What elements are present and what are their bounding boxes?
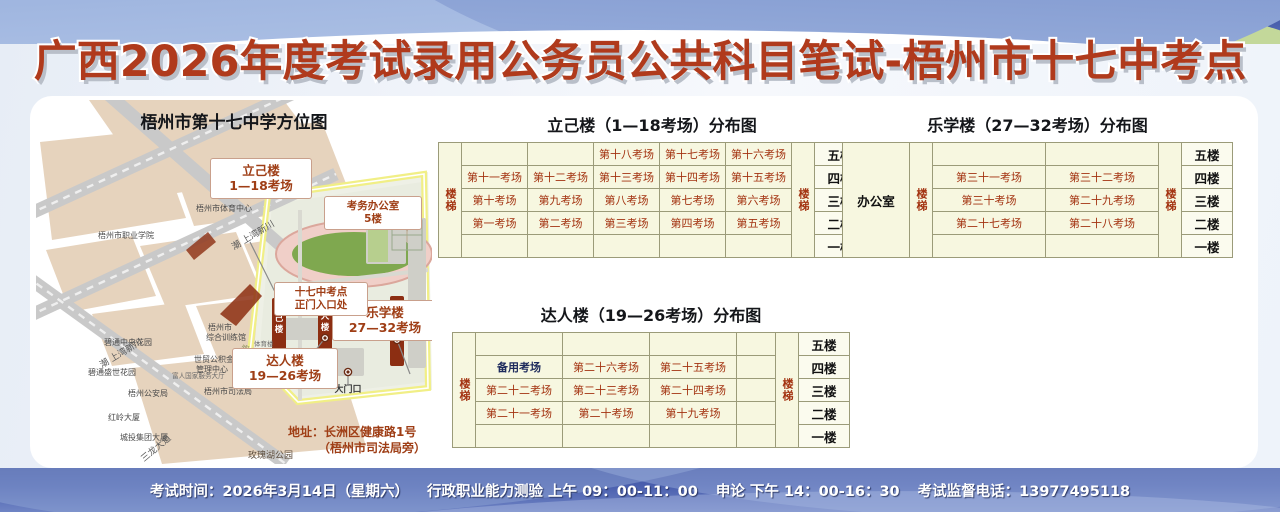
poster-root: 广西2026年度考试录用公务员公共科目笔试-梧州市十七中考点 梧州市第十七中学方… (0, 0, 1280, 512)
stair-right: 楼梯 (792, 143, 815, 258)
floor-label: 四楼 (799, 356, 850, 379)
cell (528, 235, 594, 258)
table-row: 办公室 楼梯 楼梯 五楼 (843, 143, 1233, 166)
map-title: 梧州市第十七中学方位图 (36, 108, 432, 133)
cell (737, 333, 776, 356)
place-label-1: 梧州市体育中心 (196, 203, 252, 213)
block-lexue: 乐学楼（27—32考场）分布图 办公室 楼梯 楼梯 五楼 第三十一考场 第三十二… (842, 112, 1233, 258)
floor-label: 二楼 (799, 402, 850, 425)
place-label-2: 梧州市 (208, 322, 232, 332)
map-address-line1: 地址：长洲区健康路1号 (288, 424, 426, 440)
cell (476, 425, 563, 448)
callout-daren-line2: 19—26考场 (239, 368, 331, 383)
cell: 第三十二考场 (1046, 166, 1159, 189)
callout-office-line1: 考务办公室 (330, 200, 416, 213)
block-daren-title: 达人楼（19—26考场）分布图 (452, 302, 850, 326)
cell (650, 425, 737, 448)
stair-left: 楼梯 (439, 143, 462, 258)
floor-label: 五楼 (1182, 143, 1233, 166)
cell (563, 333, 650, 356)
office-cell: 办公室 (843, 143, 910, 258)
floor-label: 三楼 (799, 379, 850, 402)
svg-text:楼: 楼 (275, 324, 284, 335)
place-label-hall: 富人国家服务大厅 (172, 371, 225, 380)
cell: 第二十考场 (563, 402, 650, 425)
cell (528, 143, 594, 166)
cell: 第二十二考场 (476, 379, 563, 402)
stair-right: 楼梯 (1159, 143, 1182, 258)
table-row: 楼梯 楼梯 五楼 (453, 333, 850, 356)
cell: 第二十七考场 (933, 212, 1046, 235)
callout-office: 考务办公室 5楼 (324, 196, 422, 230)
footer-text-row: 考试时间：2026年3月14日（星期六） 行政职业能力测验 上午 09：00-1… (0, 468, 1280, 512)
map-graphic: 立 己 楼 达 人 楼 乐 学 楼 崇德楼 大门口 梧州市职业学院 梧州市体育中… (36, 100, 432, 464)
cell: 第八考场 (594, 189, 660, 212)
footer-subject-1: 行政职业能力测验 上午 09：00-11：00 (427, 480, 698, 501)
callout-daren: 达人楼 19—26考场 (232, 348, 338, 389)
cell: 第十四考场 (660, 166, 726, 189)
cell: 第九考场 (528, 189, 594, 212)
cell: 第十六考场 (726, 143, 792, 166)
cell: 第二十六考场 (563, 356, 650, 379)
cell: 第二考场 (528, 212, 594, 235)
stair-right: 楼梯 (776, 333, 799, 448)
callout-liji-line1: 立己楼 (217, 163, 305, 178)
cell: 第三十考场 (933, 189, 1046, 212)
table-row: 楼梯 第十八考场 第十七考场 第十六考场 楼梯 五楼 (439, 143, 866, 166)
banner-title-wrapper: 广西2026年度考试录用公务员公共科目笔试-梧州市十七中考点 (0, 33, 1280, 95)
cell (594, 235, 660, 258)
callout-gate-line2: 正门入口处 (280, 299, 362, 312)
cell: 第六考场 (726, 189, 792, 212)
campus-location-map: 梧州市第十七中学方位图 (36, 100, 432, 464)
block-daren-table: 楼梯 楼梯 五楼 备用考场 第二十六考场 第二十五考场 四楼 第二十二考场 第二… (452, 332, 850, 448)
cell (660, 235, 726, 258)
cell: 第十二考场 (528, 166, 594, 189)
svg-text:综合训练馆: 综合训练馆 (206, 332, 246, 342)
place-label-0: 梧州市职业学院 (98, 230, 154, 240)
cell (737, 356, 776, 379)
place-label-5: 世贸公积金 (194, 354, 234, 364)
floor-label: 四楼 (1182, 166, 1233, 189)
callout-office-line2: 5楼 (330, 213, 416, 226)
cell: 第四考场 (660, 212, 726, 235)
block-lexue-table: 办公室 楼梯 楼梯 五楼 第三十一考场 第三十二考场 四楼 第三十考场 第二十九… (842, 142, 1233, 258)
cell: 第十八考场 (594, 143, 660, 166)
cell: 第十九考场 (650, 402, 737, 425)
place-label-park: 玫瑰湖公园 (248, 449, 293, 461)
map-address-line2: （梧州市司法局旁） (288, 440, 426, 456)
callout-liji-line2: 1—18考场 (217, 178, 305, 193)
callout-lexue-line2: 27—32考场 (339, 320, 431, 335)
cell: 第十五考场 (726, 166, 792, 189)
cell (462, 235, 528, 258)
cell (1046, 235, 1159, 258)
cell: 第三十一考场 (933, 166, 1046, 189)
cell: 第二十五考场 (650, 356, 737, 379)
cell: 第二十三考场 (563, 379, 650, 402)
floor-label: 一楼 (1182, 235, 1233, 258)
svg-text:楼: 楼 (321, 322, 330, 333)
cell: 第五考场 (726, 212, 792, 235)
callout-daren-line1: 达人楼 (239, 353, 331, 368)
cell: 第一考场 (462, 212, 528, 235)
block-liji: 立己楼（1—18考场）分布图 楼梯 第十八考场 第十七考场 第十六考场 楼梯 五… (438, 112, 866, 258)
cell (462, 143, 528, 166)
block-liji-title: 立己楼（1—18考场）分布图 (438, 112, 866, 136)
floor-label: 五楼 (799, 333, 850, 356)
block-lexue-title: 乐学楼（27—32考场）分布图 (842, 112, 1233, 136)
cell (726, 235, 792, 258)
cell: 第十七考场 (660, 143, 726, 166)
cell: 第七考场 (660, 189, 726, 212)
cell (737, 425, 776, 448)
block-daren: 达人楼（19—26考场）分布图 楼梯 楼梯 五楼 备用考场 第二十六考场 第二十… (452, 302, 850, 448)
cell (563, 425, 650, 448)
cell (933, 235, 1046, 258)
cell (737, 379, 776, 402)
cell (1046, 143, 1159, 166)
place-label-8: 红岭大厦 (108, 412, 140, 422)
page-title: 广西2026年度考试录用公务员公共科目笔试-梧州市十七中考点 (34, 33, 1247, 91)
callout-gate-line1: 十七中考点 (280, 286, 362, 299)
cell-spare: 备用考场 (476, 356, 563, 379)
footer-bar: 考试时间：2026年3月14日（星期六） 行政职业能力测验 上午 09：00-1… (0, 468, 1280, 512)
footer-hotline: 考试监督电话：13977495118 (918, 480, 1130, 501)
place-label-6: 梧州公安局 (128, 388, 168, 398)
block-liji-table: 楼梯 第十八考场 第十七考场 第十六考场 楼梯 五楼 第十一考场 第十二考场 第… (438, 142, 866, 258)
cell (476, 333, 563, 356)
footer-exam-time: 考试时间：2026年3月14日（星期六） (150, 480, 409, 501)
callout-liji: 立己楼 1—18考场 (210, 158, 312, 199)
stair-left: 楼梯 (910, 143, 933, 258)
map-address: 地址：长洲区健康路1号 （梧州市司法局旁） (288, 424, 426, 456)
cell (933, 143, 1046, 166)
cell: 第三考场 (594, 212, 660, 235)
floor-label: 一楼 (799, 425, 850, 448)
cell: 第十一考场 (462, 166, 528, 189)
cell: 第二十四考场 (650, 379, 737, 402)
cell: 第二十九考场 (1046, 189, 1159, 212)
floor-label: 二楼 (1182, 212, 1233, 235)
callout-gate: 十七中考点 正门入口处 (274, 282, 368, 316)
cell: 第十三考场 (594, 166, 660, 189)
place-label-4: 碧通盛世花园 (88, 367, 136, 377)
floor-label: 三楼 (1182, 189, 1233, 212)
cell (737, 402, 776, 425)
svg-text:体育楼: 体育楼 (254, 339, 274, 348)
cell: 第十考场 (462, 189, 528, 212)
footer-subject-2: 申论 下午 14：00-16：30 (716, 480, 900, 501)
cell: 第二十八考场 (1046, 212, 1159, 235)
cell (650, 333, 737, 356)
stair-left: 楼梯 (453, 333, 476, 448)
cell: 第二十一考场 (476, 402, 563, 425)
